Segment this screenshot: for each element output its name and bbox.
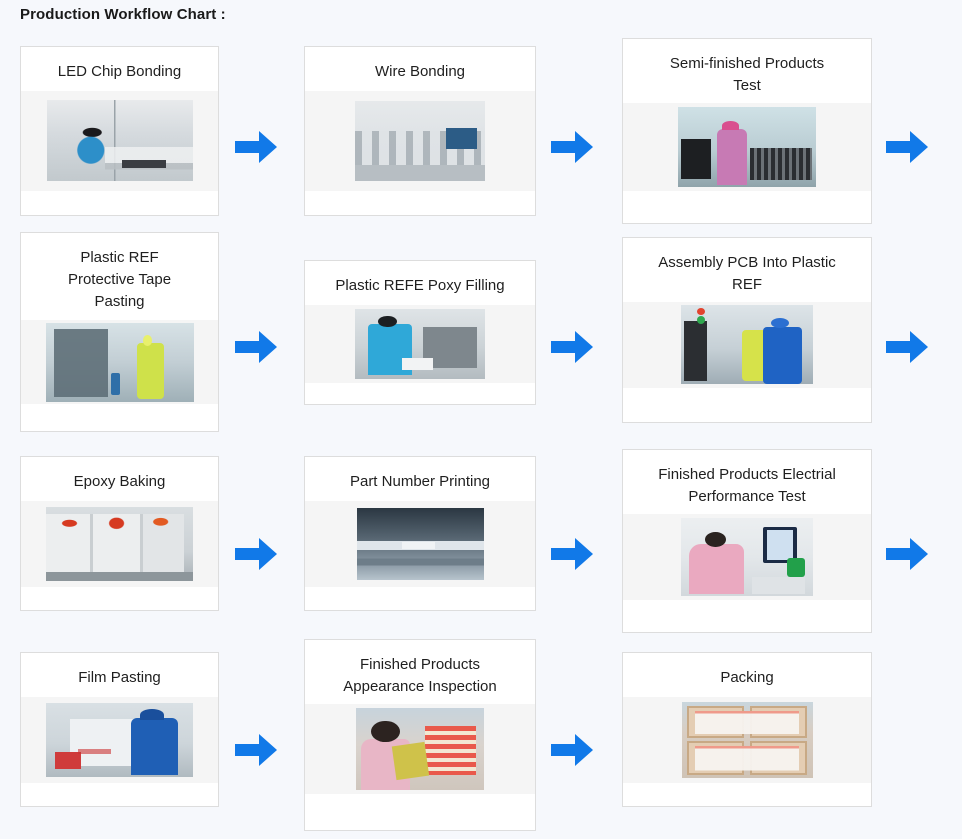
workflow-card[interactable]: Plastic REF Protective Tape Pasting (20, 232, 219, 432)
workflow-card[interactable]: Assembly PCB Into Plastic REF (622, 237, 872, 423)
card-media (21, 91, 218, 191)
arrow-right-icon (233, 328, 279, 366)
workflow-card[interactable]: Wire Bonding (304, 46, 536, 216)
arrow-right-icon (549, 731, 595, 769)
card-photo (355, 309, 485, 379)
arrow-right-icon (884, 535, 930, 573)
page-title: Production Workflow Chart : (20, 6, 226, 23)
card-photo (681, 518, 813, 596)
card-title: Packing (623, 653, 871, 689)
card-media (305, 704, 535, 794)
card-title: LED Chip Bonding (21, 47, 218, 83)
card-photo (357, 508, 484, 580)
card-title: Wire Bonding (305, 47, 535, 83)
card-photo (46, 703, 193, 777)
arrow-right-icon (549, 535, 595, 573)
card-media (21, 501, 218, 587)
card-media (305, 501, 535, 587)
card-title: Finished Products Appearance Inspection (305, 640, 535, 698)
arrow-right-icon (549, 128, 595, 166)
workflow-card[interactable]: Epoxy Baking (20, 456, 219, 611)
card-media (623, 697, 871, 783)
card-photo (356, 708, 484, 790)
arrow-right-icon (549, 328, 595, 366)
card-media (21, 697, 218, 783)
card-title: Epoxy Baking (21, 457, 218, 493)
arrow-right-icon (233, 731, 279, 769)
arrow-right-icon (884, 128, 930, 166)
card-media (623, 514, 871, 600)
arrow-right-icon (233, 535, 279, 573)
card-media (623, 302, 871, 388)
workflow-grid: LED Chip Bonding Wire Bonding (0, 36, 962, 839)
workflow-card[interactable]: Part Number Printing (304, 456, 536, 611)
arrow-right-icon (884, 328, 930, 366)
card-title: Semi-finished Products Test (623, 39, 871, 97)
card-title: Plastic REF Protective Tape Pasting (21, 233, 218, 312)
card-title: Finished Products Electrial Performance … (623, 450, 871, 508)
workflow-row: Film Pasting Finished Products Appearanc… (0, 643, 962, 839)
card-title: Assembly PCB Into Plastic REF (623, 238, 871, 296)
card-title: Plastic REFE Poxy Filling (305, 261, 535, 297)
workflow-row: Epoxy Baking Part Number Printing (0, 447, 962, 643)
workflow-card[interactable]: Semi-finished Products Test (622, 38, 872, 224)
card-title: Film Pasting (21, 653, 218, 689)
card-photo (46, 323, 194, 402)
card-photo (47, 100, 193, 181)
workflow-card[interactable]: Packing (622, 652, 872, 807)
workflow-card[interactable]: Finished Products Appearance Inspection (304, 639, 536, 831)
card-photo (681, 305, 813, 384)
card-title: Part Number Printing (305, 457, 535, 493)
card-media (21, 320, 218, 404)
card-media (305, 91, 535, 191)
card-photo (678, 107, 816, 187)
workflow-row: LED Chip Bonding Wire Bonding (0, 36, 962, 232)
card-photo (682, 702, 813, 778)
card-photo (46, 507, 193, 581)
card-media (305, 305, 535, 383)
workflow-card[interactable]: LED Chip Bonding (20, 46, 219, 216)
workflow-card[interactable]: Film Pasting (20, 652, 219, 807)
workflow-row: Plastic REF Protective Tape Pasting Plas… (0, 232, 962, 447)
workflow-card[interactable]: Plastic REFE Poxy Filling (304, 260, 536, 405)
workflow-card[interactable]: Finished Products Electrial Performance … (622, 449, 872, 633)
arrow-right-icon (233, 128, 279, 166)
card-media (623, 103, 871, 191)
card-photo (355, 101, 485, 181)
